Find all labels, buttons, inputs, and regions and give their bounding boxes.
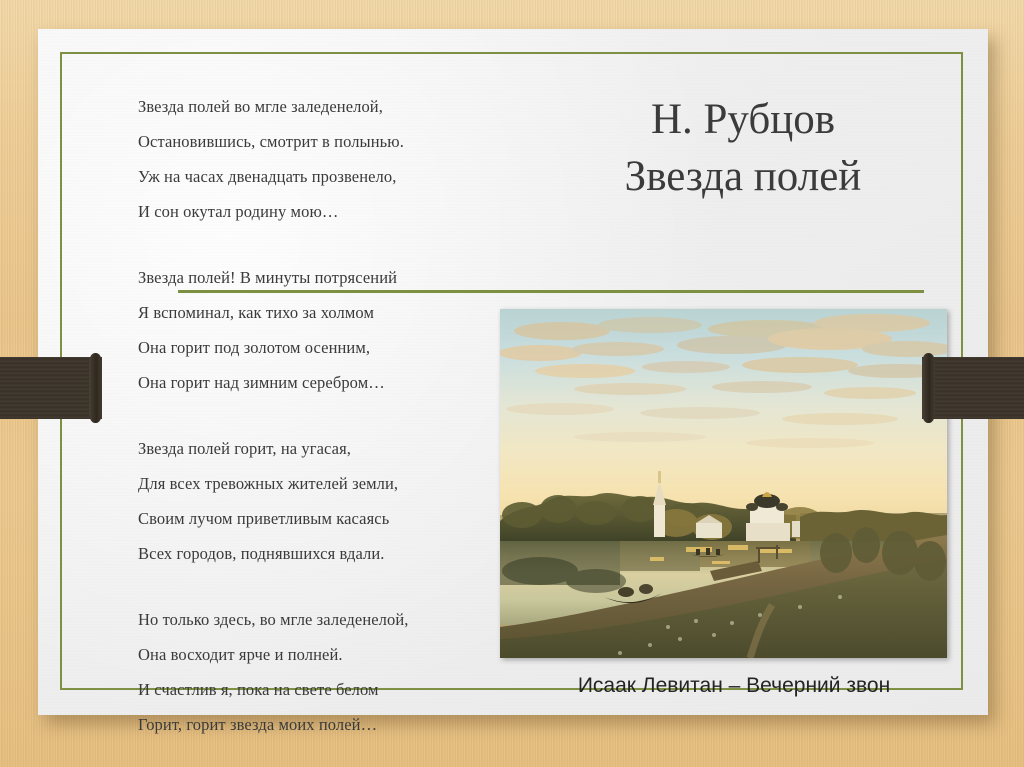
poem-line: Остановившись, смотрит в полынью. bbox=[138, 124, 490, 159]
slide-sheet: Звезда полей во мгле заледенелой, Остано… bbox=[38, 29, 988, 715]
ribbon-bar-right bbox=[922, 357, 1024, 419]
evening-bells-painting bbox=[500, 309, 947, 658]
desk-background: Звезда полей во мгле заледенелой, Остано… bbox=[0, 0, 1024, 767]
poem-stanza: Звезда полей горит, на угасая, Для всех … bbox=[138, 431, 490, 571]
poem-line: Она горит над зимним серебром… bbox=[138, 365, 490, 400]
poem-line: Всех городов, поднявшихся вдали. bbox=[138, 536, 490, 571]
ribbon-bar-left bbox=[0, 357, 102, 419]
page-title: Н. Рубцов Звезда полей bbox=[508, 91, 978, 205]
poem-line: Звезда полей во мгле заледенелой, bbox=[138, 89, 490, 124]
title-author: Н. Рубцов bbox=[508, 91, 978, 148]
poem-line: Горит, горит звезда моих полей… bbox=[138, 707, 490, 742]
horizontal-divider bbox=[178, 290, 924, 293]
poem-stanza: Звезда полей! В минуты потрясений Я вспо… bbox=[138, 260, 490, 400]
poem-line: И сон окутал родину мою… bbox=[138, 194, 490, 229]
poem-line: Своим лучом приветливым касаясь bbox=[138, 501, 490, 536]
poem-line: Для всех тревожных жителей земли, bbox=[138, 466, 490, 501]
poem-line: Уж на часах двенадцать прозвенело, bbox=[138, 159, 490, 194]
poem-line: Она горит под золотом осенним, bbox=[138, 330, 490, 365]
poem-stanza: Но только здесь, во мгле заледенелой, Он… bbox=[138, 602, 490, 742]
figure-caption: Исаак Левитан – Вечерний звон bbox=[508, 674, 960, 698]
poem-line: Я вспоминал, как тихо за холмом bbox=[138, 295, 490, 330]
poem-stanza: Звезда полей во мгле заледенелой, Остано… bbox=[138, 89, 490, 229]
title-work: Звезда полей bbox=[508, 148, 978, 205]
poem-line: Она восходит ярче и полней. bbox=[138, 637, 490, 672]
ribbon-cap-left bbox=[89, 353, 102, 423]
poem-line: И счастлив я, пока на свете белом bbox=[138, 672, 490, 707]
ribbon-cap-right bbox=[922, 353, 935, 423]
poem-text-block: Звезда полей во мгле заледенелой, Остано… bbox=[138, 89, 490, 742]
poem-line: Но только здесь, во мгле заледенелой, bbox=[138, 602, 490, 637]
poem-line: Звезда полей горит, на угасая, bbox=[138, 431, 490, 466]
